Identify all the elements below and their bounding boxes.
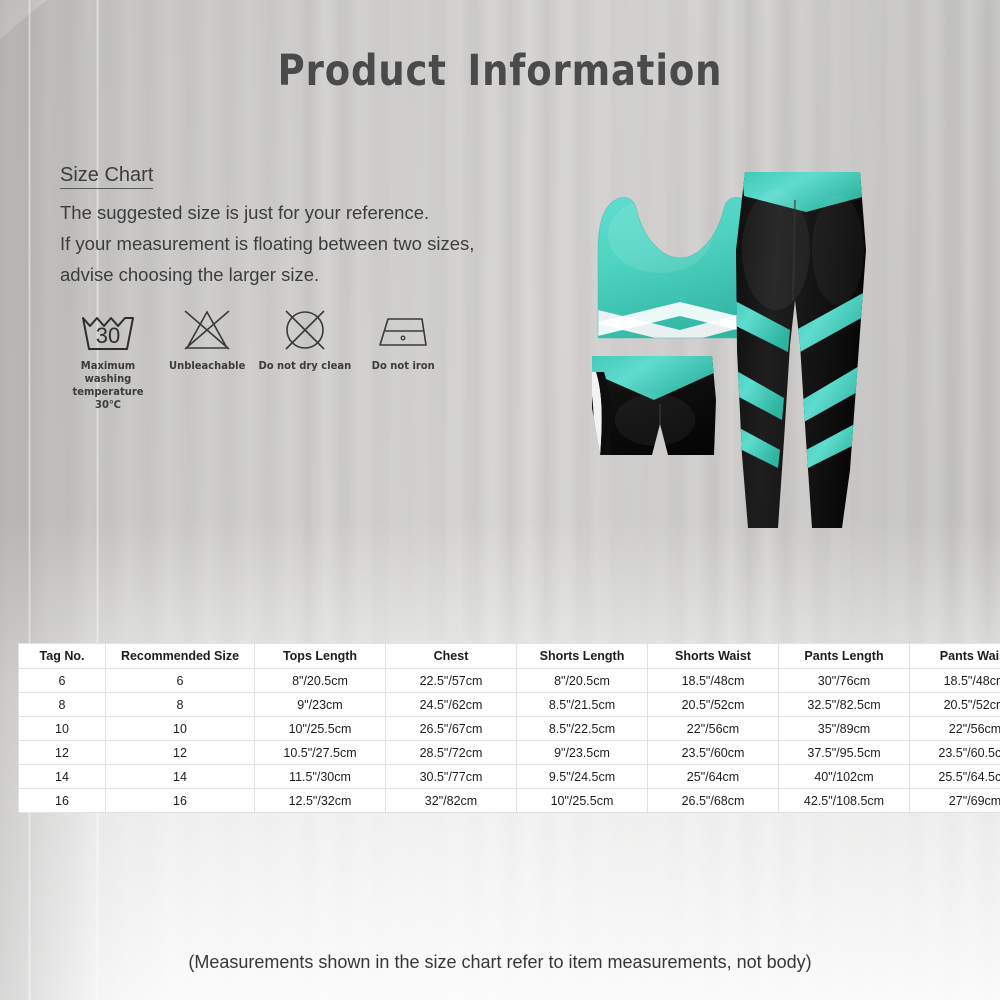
table-header-pants-waist: Pants Waist <box>910 644 1000 669</box>
cell-pants-waist: 20.5"/52cm <box>910 693 1000 717</box>
care-symbol-do-not-dry-clean: Do not dry clean <box>256 306 354 373</box>
unbleachable-triangle-crossed-icon <box>179 306 235 354</box>
table-header-shorts-length: Shorts Length <box>517 644 648 669</box>
size-chart-heading: Size Chart <box>60 164 153 189</box>
table-row: 10 10 10"/25.5cm 26.5"/67cm 8.5"/22.5cm … <box>19 717 1000 741</box>
cell-pants-waist: 22"/56cm <box>910 717 1000 741</box>
table-row: 12 12 10.5"/27.5cm 28.5"/72cm 9"/23.5cm … <box>19 741 1000 765</box>
cell-shorts-length: 8"/20.5cm <box>517 669 648 693</box>
cell-tag-no: 12 <box>19 741 106 765</box>
size-chart-table: Tag No. Recommended Size Tops Length Che… <box>18 643 1000 813</box>
table-row: 8 8 9"/23cm 24.5"/62cm 8.5"/21.5cm 20.5"… <box>19 693 1000 717</box>
size-chart-line-3: advise choosing the larger size. <box>60 259 474 290</box>
table-header-pants-length: Pants Length <box>779 644 910 669</box>
cell-tag-no: 16 <box>19 789 106 813</box>
cell-tops-length: 12.5"/32cm <box>255 789 386 813</box>
cell-recommended-size: 6 <box>106 669 255 693</box>
care-symbol-label-unbleachable: Unbleachable <box>169 360 245 373</box>
cell-chest: 22.5"/57cm <box>386 669 517 693</box>
cell-shorts-waist: 22"/56cm <box>648 717 779 741</box>
cell-pants-length: 30"/76cm <box>779 669 910 693</box>
table-header-tag-no: Tag No. <box>19 644 106 669</box>
cell-pants-length: 32.5"/82.5cm <box>779 693 910 717</box>
cell-tops-length: 8"/20.5cm <box>255 669 386 693</box>
care-symbol-label-do-not-iron: Do not iron <box>371 360 434 373</box>
background-left-shadow <box>0 0 170 1000</box>
table-row: 16 16 12.5"/32cm 32"/82cm 10"/25.5cm 26.… <box>19 789 1000 813</box>
size-chart-line-1: The suggested size is just for your refe… <box>60 197 474 228</box>
cell-tops-length: 11.5"/30cm <box>255 765 386 789</box>
table-header-recommended-size: Recommended Size <box>106 644 255 669</box>
cell-pants-waist: 27"/69cm <box>910 789 1000 813</box>
cell-pants-waist: 23.5"/60.5cm <box>910 741 1000 765</box>
cell-recommended-size: 16 <box>106 789 255 813</box>
cell-shorts-waist: 20.5"/52cm <box>648 693 779 717</box>
table-header-tops-length: Tops Length <box>255 644 386 669</box>
cell-shorts-length: 9"/23.5cm <box>517 741 648 765</box>
do-not-iron-icon <box>374 306 432 354</box>
cell-tag-no: 8 <box>19 693 106 717</box>
cell-chest: 26.5"/67cm <box>386 717 517 741</box>
cell-chest: 28.5"/72cm <box>386 741 517 765</box>
cell-tops-length: 9"/23cm <box>255 693 386 717</box>
cell-recommended-size: 10 <box>106 717 255 741</box>
cell-shorts-waist: 18.5"/48cm <box>648 669 779 693</box>
cell-shorts-waist: 25"/64cm <box>648 765 779 789</box>
size-chart-text-block: Size Chart The suggested size is just fo… <box>60 164 474 290</box>
care-symbol-unbleachable: Unbleachable <box>158 306 256 373</box>
care-symbol-label-max-wash-temp: Maximum washing temperature 30℃ <box>59 360 158 412</box>
table-header-chest: Chest <box>386 644 517 669</box>
footer-note: (Measurements shown in the size chart re… <box>0 952 1000 973</box>
table-header-row: Tag No. Recommended Size Tops Length Che… <box>19 644 1000 669</box>
table-row: 14 14 11.5"/30cm 30.5"/77cm 9.5"/24.5cm … <box>19 765 1000 789</box>
cell-shorts-length: 10"/25.5cm <box>517 789 648 813</box>
table-header-shorts-waist: Shorts Waist <box>648 644 779 669</box>
cell-tag-no: 6 <box>19 669 106 693</box>
care-symbol-do-not-iron: Do not iron <box>354 306 452 373</box>
background-fold-seam-1 <box>28 0 31 1000</box>
cell-tops-length: 10"/25.5cm <box>255 717 386 741</box>
cell-pants-length: 42.5"/108.5cm <box>779 789 910 813</box>
background <box>0 0 1000 1000</box>
cell-shorts-waist: 23.5"/60cm <box>648 741 779 765</box>
background-fold-seam-2 <box>96 0 99 1000</box>
cell-tag-no: 14 <box>19 765 106 789</box>
cell-recommended-size: 14 <box>106 765 255 789</box>
cell-chest: 32"/82cm <box>386 789 517 813</box>
cell-pants-waist: 18.5"/48cm <box>910 669 1000 693</box>
cell-shorts-length: 9.5"/24.5cm <box>517 765 648 789</box>
size-chart-line-2: If your measurement is floating between … <box>60 228 474 259</box>
cell-shorts-length: 8.5"/21.5cm <box>517 693 648 717</box>
cell-tag-no: 10 <box>19 717 106 741</box>
table-row: 6 6 8"/20.5cm 22.5"/57cm 8"/20.5cm 18.5"… <box>19 669 1000 693</box>
cell-pants-length: 37.5"/95.5cm <box>779 741 910 765</box>
do-not-dry-clean-circle-crossed-icon <box>277 306 333 354</box>
cell-shorts-waist: 26.5"/68cm <box>648 789 779 813</box>
cell-pants-length: 35"/89cm <box>779 717 910 741</box>
cell-recommended-size: 12 <box>106 741 255 765</box>
cell-chest: 24.5"/62cm <box>386 693 517 717</box>
wash-temperature-value: 30 <box>96 323 120 348</box>
page-title: Product Information <box>70 46 930 96</box>
care-symbols-row: 30 Maximum washing temperature 30℃ Unble… <box>58 306 452 412</box>
cell-shorts-length: 8.5"/22.5cm <box>517 717 648 741</box>
wash-tub-30-icon: 30 <box>77 306 139 354</box>
cell-pants-waist: 25.5"/64.5cm <box>910 765 1000 789</box>
cell-chest: 30.5"/77cm <box>386 765 517 789</box>
cell-tops-length: 10.5"/27.5cm <box>255 741 386 765</box>
size-chart-description: The suggested size is just for your refe… <box>60 197 474 290</box>
care-symbol-max-wash-temp: 30 Maximum washing temperature 30℃ <box>58 306 158 412</box>
cell-pants-length: 40"/102cm <box>779 765 910 789</box>
cell-recommended-size: 8 <box>106 693 255 717</box>
care-symbol-label-do-not-dry-clean: Do not dry clean <box>259 360 352 373</box>
